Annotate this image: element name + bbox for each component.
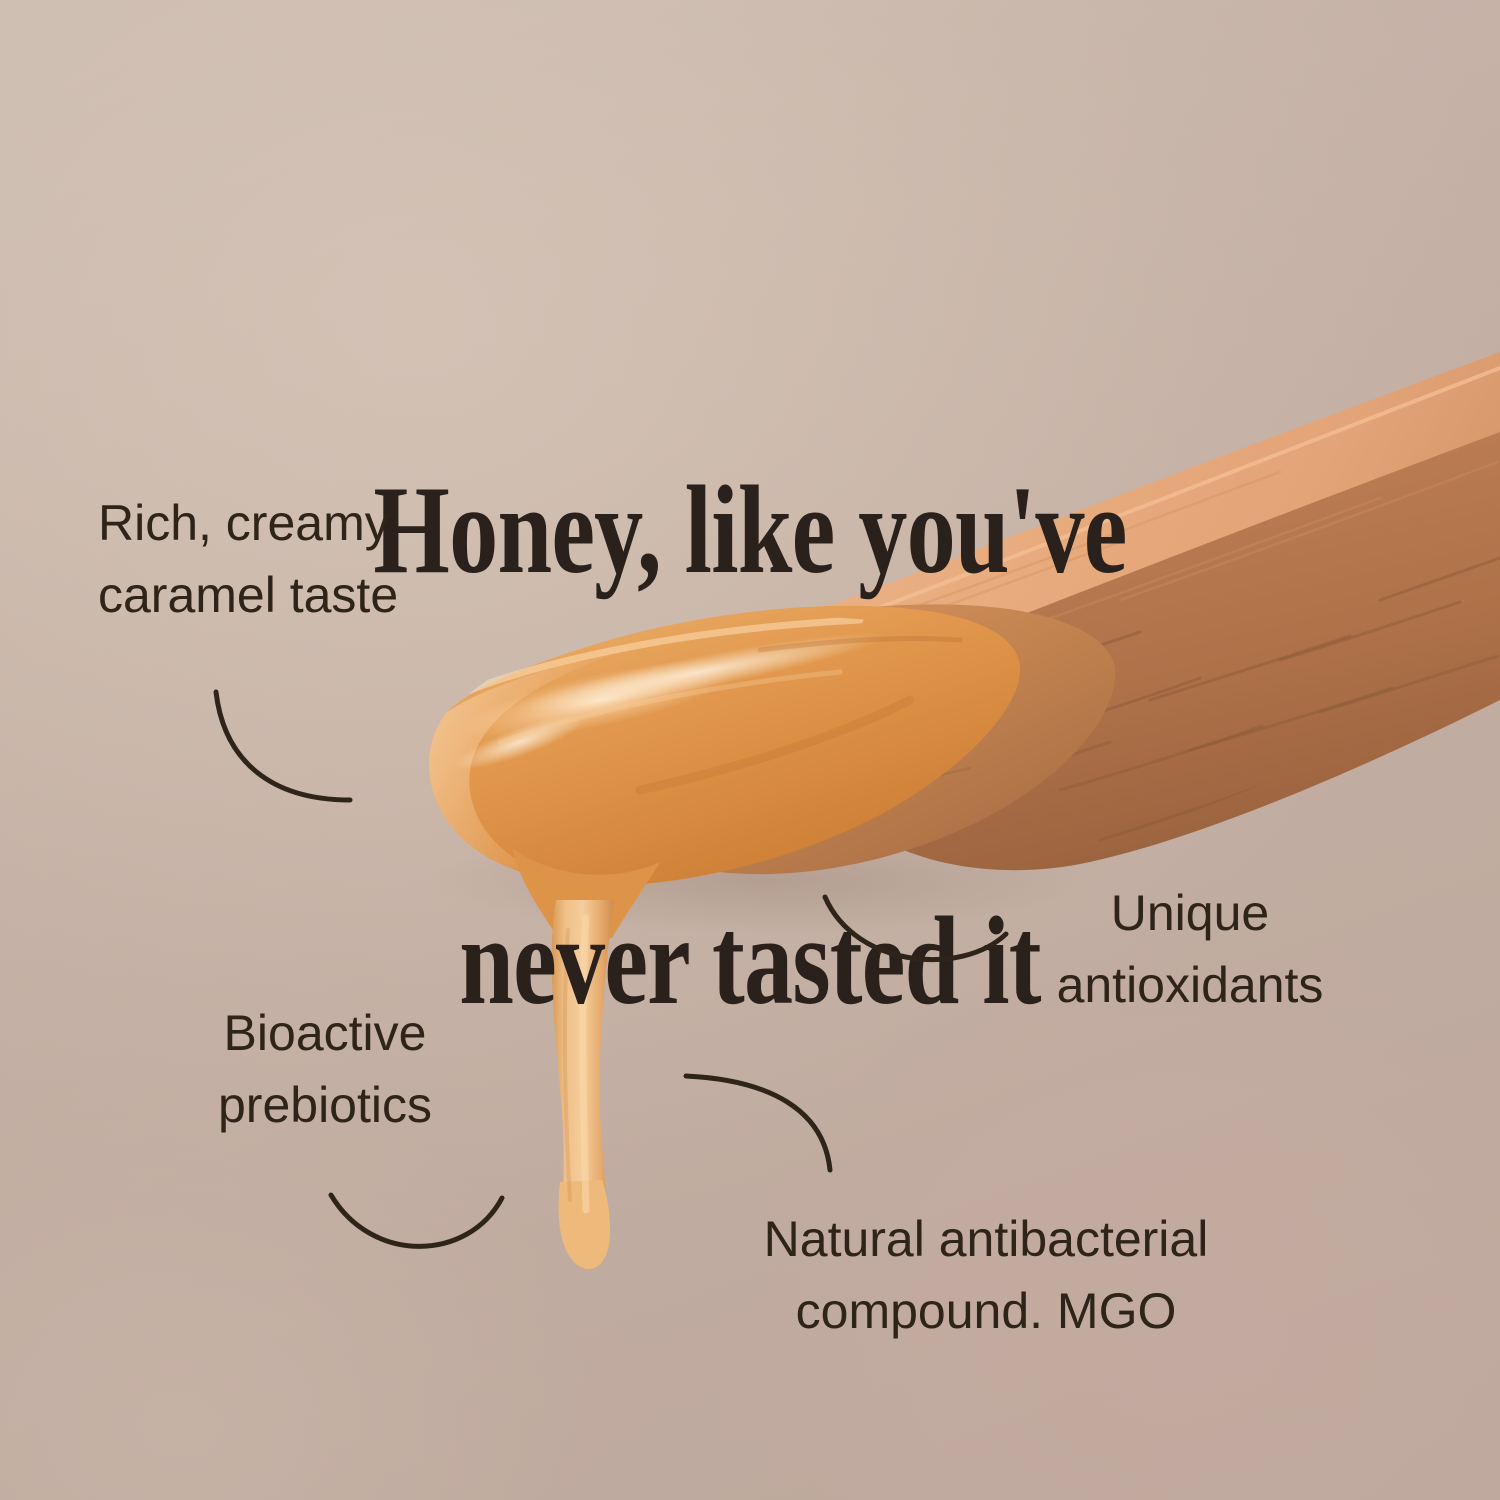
- feature-label-natural-antibacterial-compound-mgo: Natural antibacterial compound. MGO: [676, 1203, 1296, 1347]
- feature-label-bioactive-prebiotics: Bioactive prebiotics: [170, 997, 480, 1141]
- promo-image-canvas: Honey, like you've never tasted it Rich,…: [0, 0, 1500, 1500]
- feature-label-unique-antioxidants: Unique antioxidants: [1000, 877, 1380, 1021]
- page-title: Honey, like you've never tasted it: [165, 172, 1335, 1321]
- feature-label-rich-creamy-caramel-taste: Rich, creamy caramel taste: [98, 487, 398, 631]
